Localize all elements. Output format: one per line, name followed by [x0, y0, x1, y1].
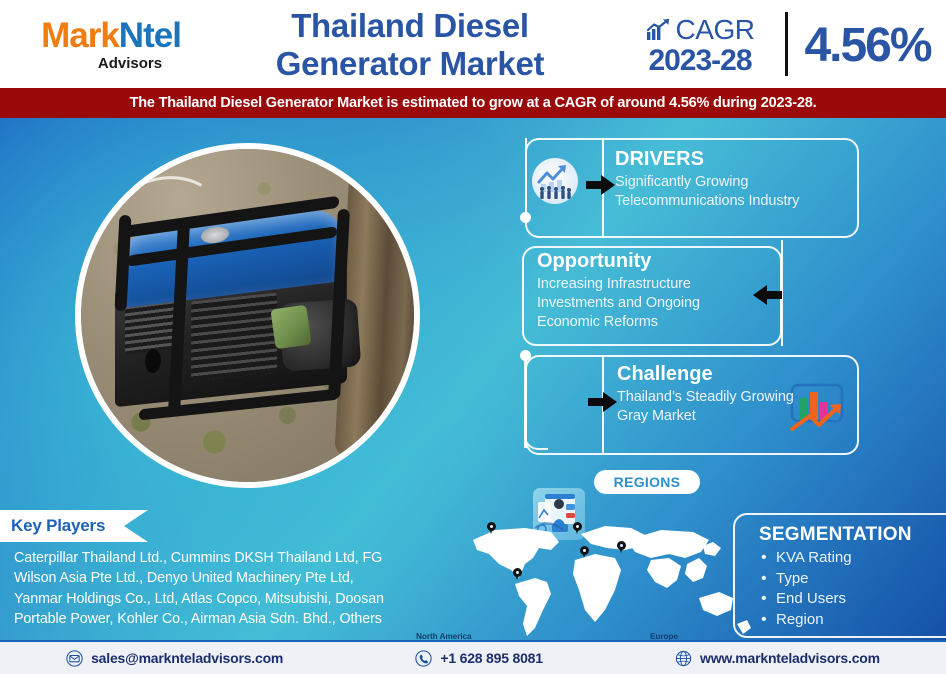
arrow-right-icon: [586, 174, 616, 196]
map-pin-north-america: [487, 522, 496, 534]
logo-subtitle: Advisors: [64, 55, 196, 72]
opportunity-subtext-line2: Investments and Ongoing: [537, 294, 769, 313]
drivers-subtext: Significantly Growing Telecommunications…: [615, 173, 851, 211]
opportunity-text: Opportunity Increasing Infrastructure In…: [537, 250, 769, 332]
opportunity-subtext-line1: Increasing Infrastructure: [537, 275, 769, 294]
generator-photo: [75, 143, 420, 488]
footer-phone-text: +1 628 895 8081: [440, 650, 543, 666]
segmentation-item: KVA Rating: [759, 548, 946, 569]
infographic-body: Key Players Caterpillar Thailand Ltd., C…: [0, 118, 946, 640]
challenge-text: Challenge Thailand’s Steadily Growing Gr…: [617, 363, 857, 426]
opportunity-subtext-line3: Economic Reforms: [537, 313, 769, 332]
drivers-heading: DRIVERS: [615, 148, 851, 170]
footer-email[interactable]: sales@marknteladvisors.com: [66, 650, 283, 667]
cagr-block: CAGR 2023-28: [620, 8, 780, 82]
region-north-america: North America: [416, 631, 500, 640]
footer-website-text: www.marknteladvisors.com: [700, 650, 880, 666]
key-players-tab: Key Players: [0, 510, 148, 542]
phone-icon: [415, 650, 432, 667]
segmentation-list: KVA Rating Type End Users Region: [759, 548, 946, 631]
title-line-1: Thailand Diesel: [215, 7, 605, 45]
opportunity-heading: Opportunity: [537, 250, 769, 272]
region-europe: Europe: [650, 631, 734, 640]
map-pin-asia-pacific: [617, 541, 626, 553]
drivers-subtext-line1: Significantly Growing: [615, 173, 851, 192]
footer: sales@marknteladvisors.com +1 628 895 80…: [0, 640, 946, 674]
drivers-text: DRIVERS Significantly Growing Telecommun…: [615, 148, 851, 211]
cagr-divider: [785, 12, 788, 76]
segmentation-item: End Users: [759, 589, 946, 610]
summary-banner-text: The Thailand Diesel Generator Market is …: [130, 95, 817, 111]
segmentation-heading: SEGMENTATION: [759, 524, 946, 546]
bar-chart-growth-icon: [646, 18, 672, 42]
challenge-heading: Challenge: [617, 363, 857, 385]
cagr-value: 4.56%: [795, 8, 940, 82]
envelope-icon: [66, 650, 83, 667]
summary-banner: The Thailand Diesel Generator Market is …: [0, 88, 946, 118]
regions-pill-label: REGIONS: [614, 474, 681, 490]
challenge-subtext-line2: Gray Market: [617, 407, 857, 426]
footer-phone[interactable]: +1 628 895 8081: [415, 650, 543, 667]
footer-website[interactable]: www.marknteladvisors.com: [675, 650, 880, 667]
footer-email-text: sales@marknteladvisors.com: [91, 650, 283, 666]
logo-ntel-text: Ntel: [119, 16, 181, 55]
cagr-label-row: CAGR: [646, 14, 755, 46]
header: MarkNtel Advisors Thailand Diesel Genera…: [0, 0, 946, 88]
world-map: [455, 506, 755, 640]
key-players-list: Caterpillar Thailand Ltd., Cummins DKSH …: [14, 548, 396, 629]
drivers-subtext-line2: Telecommunications Industry: [615, 192, 851, 211]
logo-mark-text: Mark: [41, 16, 119, 55]
region-label: Europe: [650, 631, 734, 640]
segmentation-item: Type: [759, 569, 946, 590]
generator-photo-inner: [81, 149, 414, 482]
logo-wordmark: MarkNtel: [26, 18, 196, 53]
map-pin-south-america: [513, 568, 522, 580]
generator-vent-right: [191, 292, 277, 381]
generator-air-filter: [270, 305, 311, 350]
growth-chart-people-icon: [532, 158, 578, 204]
page-title: Thailand Diesel Generator Market: [215, 2, 605, 88]
segmentation-panel: SEGMENTATION KVA Rating Type End Users R…: [733, 513, 946, 638]
region-label: North America: [416, 631, 500, 640]
segmentation-item: Region: [759, 610, 946, 631]
brand-logo[interactable]: MarkNtel Advisors: [26, 18, 196, 72]
challenge-subtext-line1: Thailand’s Steadily Growing: [617, 388, 857, 407]
regions-pill: REGIONS: [594, 470, 700, 494]
title-line-2: Generator Market: [215, 45, 605, 83]
opportunity-subtext: Increasing Infrastructure Investments an…: [537, 275, 769, 332]
globe-icon: [675, 650, 692, 667]
key-players-title: Key Players: [11, 516, 105, 536]
map-pin-europe: [573, 522, 582, 534]
challenge-subtext: Thailand’s Steadily Growing Gray Market: [617, 388, 857, 426]
cagr-label: CAGR: [676, 14, 755, 46]
arrow-left-icon: [752, 284, 782, 306]
map-pin-middle-east: [580, 546, 589, 558]
cagr-years: 2023-28: [648, 46, 751, 76]
arrow-right-icon: [588, 391, 618, 413]
